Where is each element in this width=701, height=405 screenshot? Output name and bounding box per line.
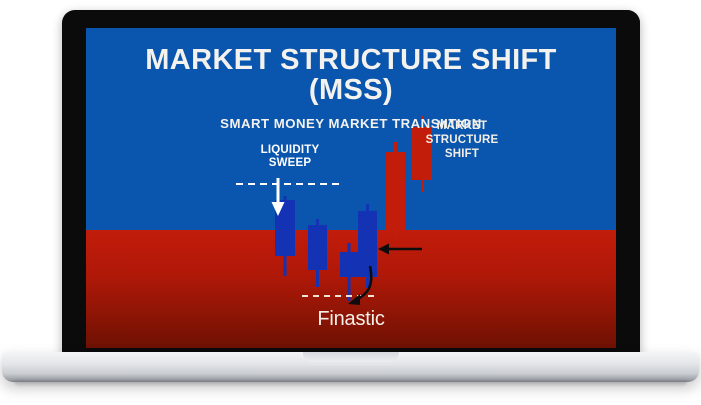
market-structure-shift-annotation: MARKET STRUCTURE SHIFT	[406, 120, 518, 161]
liquidity-sweep-annotation: LIQUIDITY SWEEP	[235, 144, 345, 170]
presentation-slide[interactable]: MARKET STRUCTURE SHIFT (MSS) SMART MONEY…	[86, 28, 616, 348]
laptop-base-shadow	[14, 380, 687, 387]
slide-title-line-1: MARKET STRUCTURE SHIFT	[145, 44, 557, 76]
candle-4-mss	[358, 204, 377, 288]
laptop-base	[2, 352, 699, 382]
slide-title-line-2: (MSS)	[86, 76, 616, 106]
mss-pointer-arrow-icon	[378, 244, 422, 255]
brand-logo: Finastic	[86, 308, 616, 331]
mss-annotation-line-2: STRUCTURE	[406, 134, 518, 148]
liquidity-sweep-annotation-line-1: LIQUIDITY	[235, 144, 345, 157]
slide-subtitle: SMART MONEY MARKET TRANSIITION	[86, 116, 616, 131]
candle-3	[340, 243, 358, 301]
mss-annotation-line-1: MARKET	[406, 120, 518, 134]
candle-2	[308, 219, 327, 287]
mss-annotation-line-3: SHIFT	[406, 148, 518, 162]
liquidity-sweep-annotation-line-2: SWEEP	[235, 157, 345, 170]
laptop-mockup: MARKET STRUCTURE SHIFT (MSS) SMART MONEY…	[0, 0, 701, 405]
candle-5	[386, 142, 405, 238]
laptop-base-notch	[303, 352, 399, 362]
slide-title: MARKET STRUCTURE SHIFT (MSS)	[86, 46, 616, 105]
